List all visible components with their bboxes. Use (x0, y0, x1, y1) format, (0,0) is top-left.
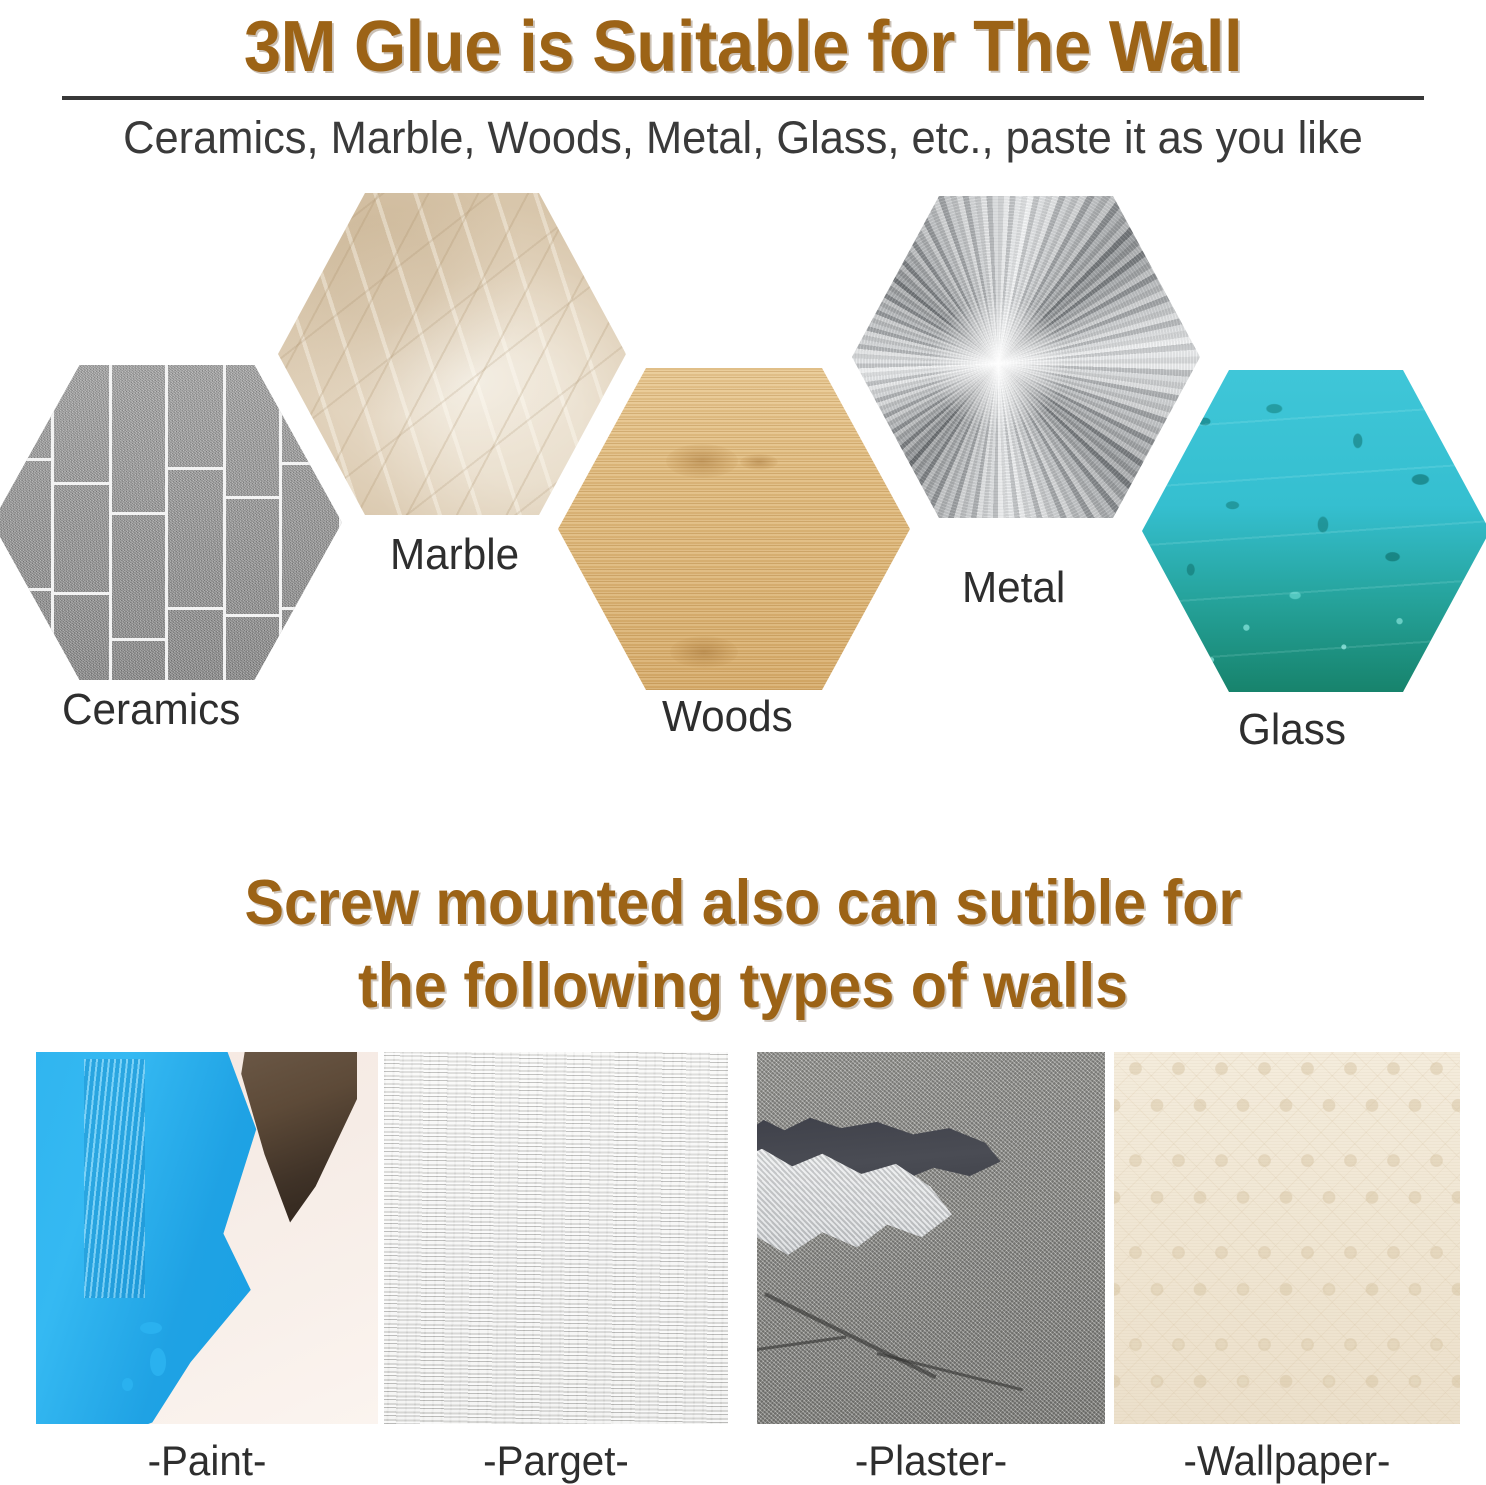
wallpaper-image (1114, 1052, 1460, 1424)
hexagon-label-woods: Woods (662, 692, 793, 742)
surface-hexagon-group: Ceramics Marble Woods Metal G (0, 180, 1486, 780)
page-title: 3M Glue is Suitable for The Wall (52, 4, 1434, 90)
wall-panel-label-paint: -Paint- (43, 1436, 371, 1485)
page-subtitle: Ceramics, Marble, Woods, Metal, Glass, e… (26, 107, 1460, 169)
hexagon-metal (852, 196, 1200, 518)
wall-panel-parget: -Parget- (384, 1052, 728, 1424)
wall-panel-label-parget: -Parget- (391, 1436, 721, 1485)
wall-panel-paint: -Paint- (36, 1052, 378, 1424)
paint-drip-large (150, 1348, 166, 1376)
hexagon-label-ceramics: Ceramics (62, 685, 240, 735)
wood-texture-grain (558, 368, 910, 690)
parget-ribbed-texture (384, 1052, 728, 1424)
wallpaper-paper-grain (1114, 1052, 1460, 1424)
wall-type-panel-row: -Paint- -Parget- -Plaster- (0, 1052, 1486, 1485)
wall-panel-label-wallpaper: -Wallpaper- (1121, 1436, 1453, 1485)
title-divider (62, 96, 1424, 100)
section-heading-line-1: Screw mounted also can sutible for (45, 862, 1442, 945)
hexagon-ceramics (0, 365, 342, 680)
hexagon-woods (558, 368, 910, 690)
plaster-image (757, 1052, 1105, 1424)
section-heading-line-2: the following types of walls (45, 945, 1442, 1028)
paint-image (36, 1052, 378, 1424)
header-block: 3M Glue is Suitable for The Wall Ceramic… (0, 0, 1486, 180)
hexagon-glass (1142, 370, 1486, 692)
parget-image (384, 1052, 728, 1424)
section-heading-screw-mounted: Screw mounted also can sutible for the f… (45, 862, 1442, 1028)
glass-texture-streaks (1142, 370, 1486, 692)
paint-ripple-texture (84, 1059, 146, 1297)
wall-panel-plaster: -Plaster- (757, 1052, 1105, 1424)
paint-drip-small (122, 1378, 133, 1391)
wall-panel-label-plaster: -Plaster- (764, 1436, 1098, 1485)
paint-drip-stretch (140, 1322, 162, 1334)
hexagon-label-metal: Metal (962, 563, 1065, 613)
wall-panel-wallpaper: -Wallpaper- (1114, 1052, 1460, 1424)
metal-texture-sheen (852, 196, 1200, 518)
marble-texture-veins (278, 193, 626, 515)
hexagon-label-marble: Marble (390, 530, 519, 580)
infographic-page: 3M Glue is Suitable for The Wall Ceramic… (0, 0, 1486, 1485)
hexagon-marble (278, 193, 626, 515)
hexagon-label-glass: Glass (1238, 705, 1346, 755)
